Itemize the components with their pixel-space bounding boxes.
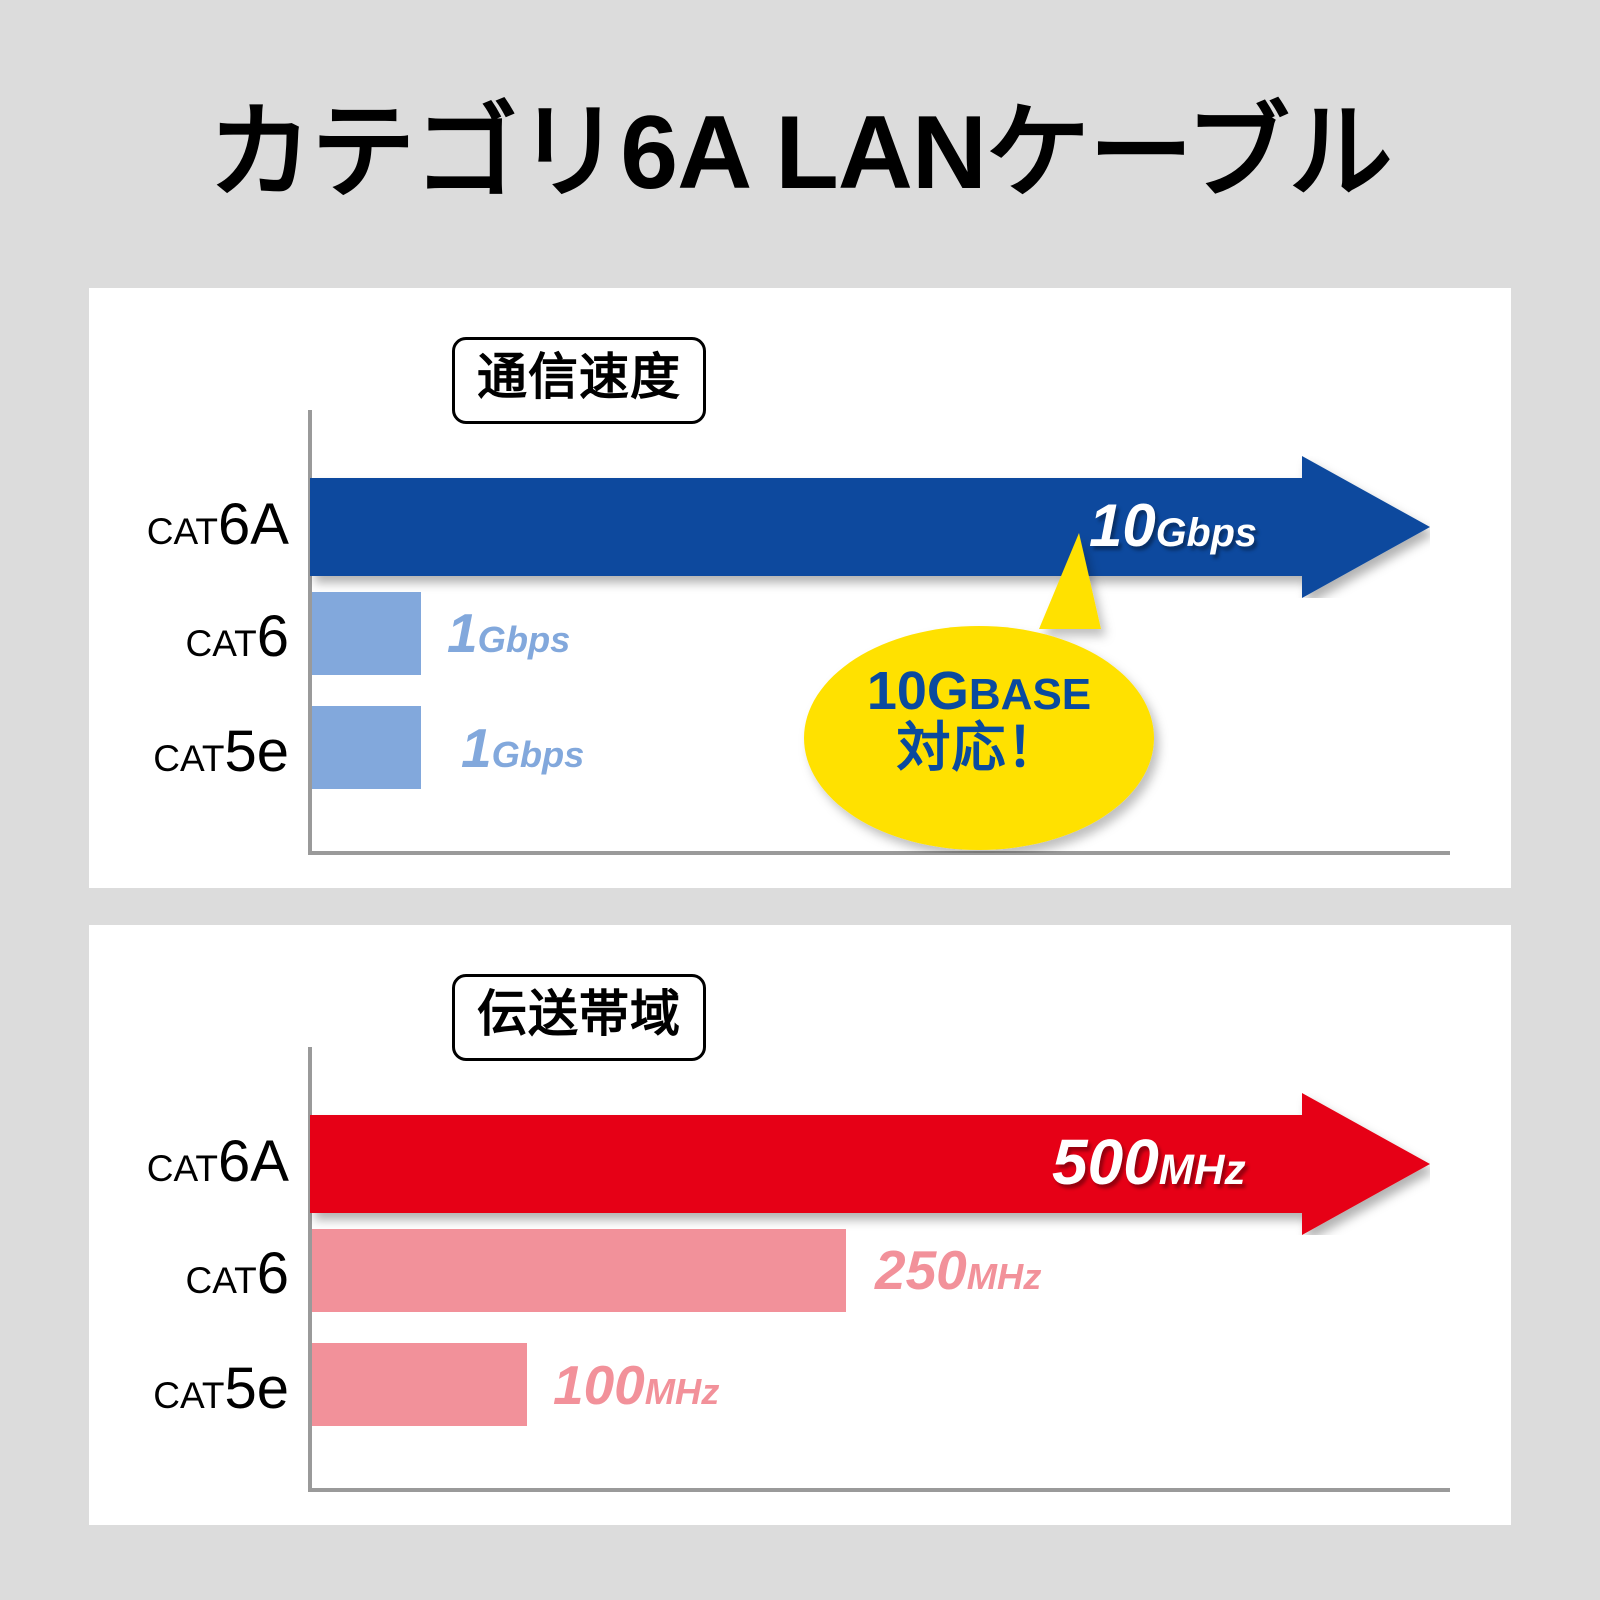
speed-category-name-1: 6 bbox=[257, 604, 289, 669]
bandwidth-category-name-2: 5e bbox=[224, 1356, 289, 1421]
speed-value-number-0: 10 bbox=[1089, 492, 1156, 559]
bandwidth-bar-cat6 bbox=[312, 1229, 846, 1312]
bandwidth-bar-cat6a bbox=[310, 1093, 1430, 1235]
speed-category-label-1: CAT6 bbox=[89, 608, 289, 666]
speed-category-prefix-1: CAT bbox=[185, 623, 256, 664]
speed-value-number-2: 1 bbox=[461, 717, 492, 779]
speed-value-unit-0: Gbps bbox=[1156, 511, 1257, 555]
bandwidth-category-prefix-0: CAT bbox=[147, 1148, 218, 1189]
callout-line1: 10GBASE bbox=[789, 663, 1169, 720]
bandwidth-chart-title: 伝送帯域 bbox=[452, 974, 706, 1061]
callout-text: 10GBASE 対応！ bbox=[789, 663, 1169, 776]
bandwidth-category-name-0: 6A bbox=[218, 1129, 289, 1194]
bandwidth-chart-panel: 伝送帯域 CAT6A CAT6 CAT5e 500MHz 250MHz 100M… bbox=[89, 925, 1511, 1525]
bandwidth-category-label-2: CAT5e bbox=[89, 1360, 289, 1418]
bandwidth-category-prefix-2: CAT bbox=[153, 1375, 224, 1416]
bandwidth-value-number-0: 500 bbox=[1052, 1126, 1159, 1198]
speed-category-label-0: CAT6A bbox=[89, 496, 289, 554]
bandwidth-value-label-1: 250MHz bbox=[875, 1243, 1041, 1298]
speed-category-label-2: CAT5e bbox=[89, 723, 289, 781]
callout-line1-main: 10G bbox=[867, 661, 969, 721]
speed-bar-cat6 bbox=[312, 592, 421, 675]
bandwidth-x-axis bbox=[308, 1488, 1450, 1492]
bandwidth-category-prefix-1: CAT bbox=[185, 1260, 256, 1301]
speed-category-prefix-2: CAT bbox=[153, 738, 224, 779]
speed-value-label-1: 1Gbps bbox=[447, 606, 570, 661]
bandwidth-bar-cat5e bbox=[312, 1343, 527, 1426]
bandwidth-category-label-0: CAT6A bbox=[89, 1133, 289, 1191]
bandwidth-value-unit-2: MHz bbox=[645, 1371, 720, 1412]
bandwidth-value-number-2: 100 bbox=[553, 1354, 645, 1416]
speed-value-label-2: 1Gbps bbox=[461, 721, 584, 776]
speed-category-name-2: 5e bbox=[224, 719, 289, 784]
speed-bar-cat5e bbox=[312, 706, 421, 789]
speed-value-unit-1: Gbps bbox=[478, 619, 571, 660]
bandwidth-value-unit-1: MHz bbox=[967, 1256, 1042, 1297]
speed-value-number-1: 1 bbox=[447, 602, 478, 664]
bandwidth-value-label-0: 500MHz bbox=[1052, 1130, 1246, 1194]
speed-chart-panel: 通信速度 CAT6A CAT6 CAT5e 10Gbps 1Gbps 1Gbps bbox=[89, 288, 1511, 888]
speed-category-prefix-0: CAT bbox=[147, 511, 218, 552]
speed-value-label-0: 10Gbps bbox=[1089, 496, 1257, 556]
speed-category-name-0: 6A bbox=[218, 492, 289, 557]
callout-line2: 対応！ bbox=[789, 720, 1169, 777]
speed-value-unit-2: Gbps bbox=[492, 734, 585, 775]
bandwidth-value-unit-0: MHz bbox=[1159, 1146, 1246, 1193]
speed-chart-title: 通信速度 bbox=[452, 337, 706, 424]
bandwidth-value-number-1: 250 bbox=[875, 1239, 967, 1301]
callout-line1-sub: BASE bbox=[969, 670, 1091, 719]
bandwidth-category-name-1: 6 bbox=[257, 1241, 289, 1306]
page-title: カテゴリ6A LANケーブル bbox=[0, 96, 1600, 210]
bandwidth-category-label-1: CAT6 bbox=[89, 1245, 289, 1303]
bandwidth-value-label-2: 100MHz bbox=[553, 1358, 719, 1413]
